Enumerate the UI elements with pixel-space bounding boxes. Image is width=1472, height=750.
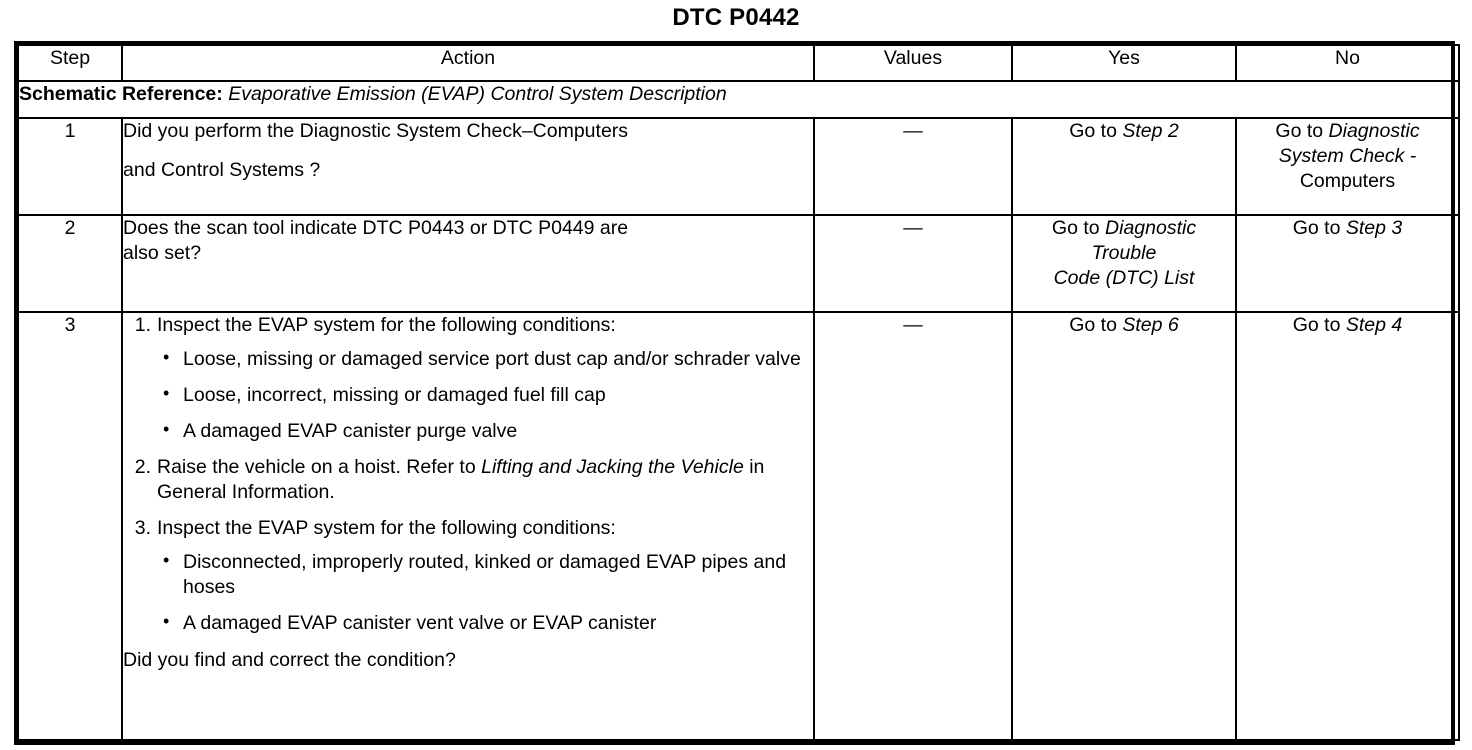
yes-reference: Step 6 [1122, 314, 1178, 336]
list-item-text-pre: Raise the vehicle on a hoist. Refer to [157, 456, 481, 478]
column-header-action: Action [122, 45, 814, 81]
no-cell: Go to Step 3 [1236, 215, 1459, 312]
action-line: and Control Systems ? [123, 158, 813, 183]
yes-line: Go to Diagnostic [1013, 216, 1235, 241]
yes-reference: Diagnostic [1105, 217, 1196, 239]
sub-item-text: Disconnected, improperly routed, kinked … [183, 551, 786, 598]
diagnostic-table-wrapper: Step Action Values Yes No Schematic Refe… [14, 41, 1455, 745]
step-number: 3 [18, 312, 122, 740]
values-cell: — [814, 118, 1012, 215]
action-line: Did you perform the Diagnostic System Ch… [123, 119, 813, 144]
no-reference: Step 4 [1346, 314, 1402, 336]
values-cell: — [814, 312, 1012, 740]
schematic-reference-value: Evaporative Emission (EVAP) Control Syst… [228, 83, 727, 105]
column-header-step: Step [18, 45, 122, 81]
sub-item-text: A damaged EVAP canister vent valve or EV… [183, 612, 656, 634]
action-sub-list: • Disconnected, improperly routed, kinke… [157, 550, 813, 636]
action-sub-item: • Loose, incorrect, missing or damaged f… [157, 383, 813, 408]
no-cell: Go to Diagnostic System Check - Computer… [1236, 118, 1459, 215]
action-question: Did you find and correct the condition? [123, 648, 813, 673]
no-cell: Go to Step 4 [1236, 312, 1459, 740]
yes-reference: Step 2 [1122, 120, 1178, 142]
no-text: Go to [1293, 314, 1346, 336]
list-item-text: Raise the vehicle on a hoist. Refer to L… [157, 456, 764, 503]
diagnostic-table: Step Action Values Yes No Schematic Refe… [17, 44, 1460, 741]
action-sub-item: • A damaged EVAP canister vent valve or … [157, 611, 813, 636]
yes-text: Go to [1069, 120, 1122, 142]
column-header-values: Values [814, 45, 1012, 81]
list-item-text: Inspect the EVAP system for the followin… [157, 314, 616, 336]
no-line: Go to Step 3 [1237, 216, 1458, 241]
schematic-reference-label: Schematic Reference: [19, 83, 223, 105]
action-sub-item: • Loose, missing or damaged service port… [157, 347, 813, 372]
yes-cell: Go to Diagnostic Trouble Code (DTC) List [1012, 215, 1236, 312]
no-text: Computers [1237, 169, 1458, 194]
action-list-item: 3. Inspect the EVAP system for the follo… [123, 516, 813, 636]
sub-item-text: Loose, incorrect, missing or damaged fue… [183, 384, 606, 406]
action-sub-item: • A damaged EVAP canister purge valve [157, 419, 813, 444]
action-list-item: 2. Raise the vehicle on a hoist. Refer t… [123, 455, 813, 505]
schematic-reference-row: Schematic Reference: Evaporative Emissio… [18, 81, 1459, 118]
list-item-number: 3. [125, 516, 151, 541]
yes-text: Go to [1069, 314, 1122, 336]
table-row: 3 1. Inspect the EVAP system for the fol… [18, 312, 1459, 740]
list-item-number: 1. [125, 313, 151, 338]
yes-cell: Go to Step 2 [1012, 118, 1236, 215]
yes-reference: Code (DTC) List [1013, 266, 1235, 291]
action-cell: 1. Inspect the EVAP system for the follo… [122, 312, 814, 740]
no-reference: Diagnostic [1329, 120, 1420, 142]
list-item-text: Inspect the EVAP system for the followin… [157, 517, 616, 539]
sub-item-text: Loose, missing or damaged service port d… [183, 348, 801, 370]
yes-text: Go to [1052, 217, 1105, 239]
step-number: 2 [18, 215, 122, 312]
action-sub-list: • Loose, missing or damaged service port… [157, 347, 813, 444]
no-text: Go to [1293, 217, 1346, 239]
column-header-no: No [1236, 45, 1459, 81]
action-sub-item: • Disconnected, improperly routed, kinke… [157, 550, 813, 600]
sub-item-text: A damaged EVAP canister purge valve [183, 420, 517, 442]
values-cell: — [814, 215, 1012, 312]
bullet-icon: • [163, 382, 169, 405]
no-reference: Step 3 [1346, 217, 1402, 239]
schematic-reference-cell: Schematic Reference: Evaporative Emissio… [18, 81, 1459, 118]
action-ordered-list: 1. Inspect the EVAP system for the follo… [123, 313, 813, 636]
action-cell: Did you perform the Diagnostic System Ch… [122, 118, 814, 215]
bullet-icon: • [163, 346, 169, 369]
no-reference: System Check - [1237, 144, 1458, 169]
bullet-icon: • [163, 418, 169, 441]
yes-line: Go to Step 2 [1013, 119, 1235, 144]
table-row: 1 Did you perform the Diagnostic System … [18, 118, 1459, 215]
step-number: 1 [18, 118, 122, 215]
action-cell: Does the scan tool indicate DTC P0443 or… [122, 215, 814, 312]
table-header-row: Step Action Values Yes No [18, 45, 1459, 81]
bullet-icon: • [163, 610, 169, 633]
action-line: Does the scan tool indicate DTC P0443 or… [123, 216, 813, 241]
yes-reference: Trouble [1013, 241, 1235, 266]
yes-cell: Go to Step 6 [1012, 312, 1236, 740]
list-item-reference: Lifting and Jacking the Vehicle [481, 456, 744, 478]
action-list-item: 1. Inspect the EVAP system for the follo… [123, 313, 813, 444]
action-line: also set? [123, 241, 813, 266]
bullet-icon: • [163, 549, 169, 572]
list-item-number: 2. [125, 455, 151, 480]
page-title: DTC P0442 [0, 4, 1472, 32]
column-header-yes: Yes [1012, 45, 1236, 81]
no-line: Go to Step 4 [1237, 313, 1458, 338]
document-page: DTC P0442 Step Action Values Yes No Sche… [0, 0, 1472, 750]
no-line: Go to Diagnostic [1237, 119, 1458, 144]
yes-line: Go to Step 6 [1013, 313, 1235, 338]
table-row: 2 Does the scan tool indicate DTC P0443 … [18, 215, 1459, 312]
no-text: Go to [1275, 120, 1328, 142]
